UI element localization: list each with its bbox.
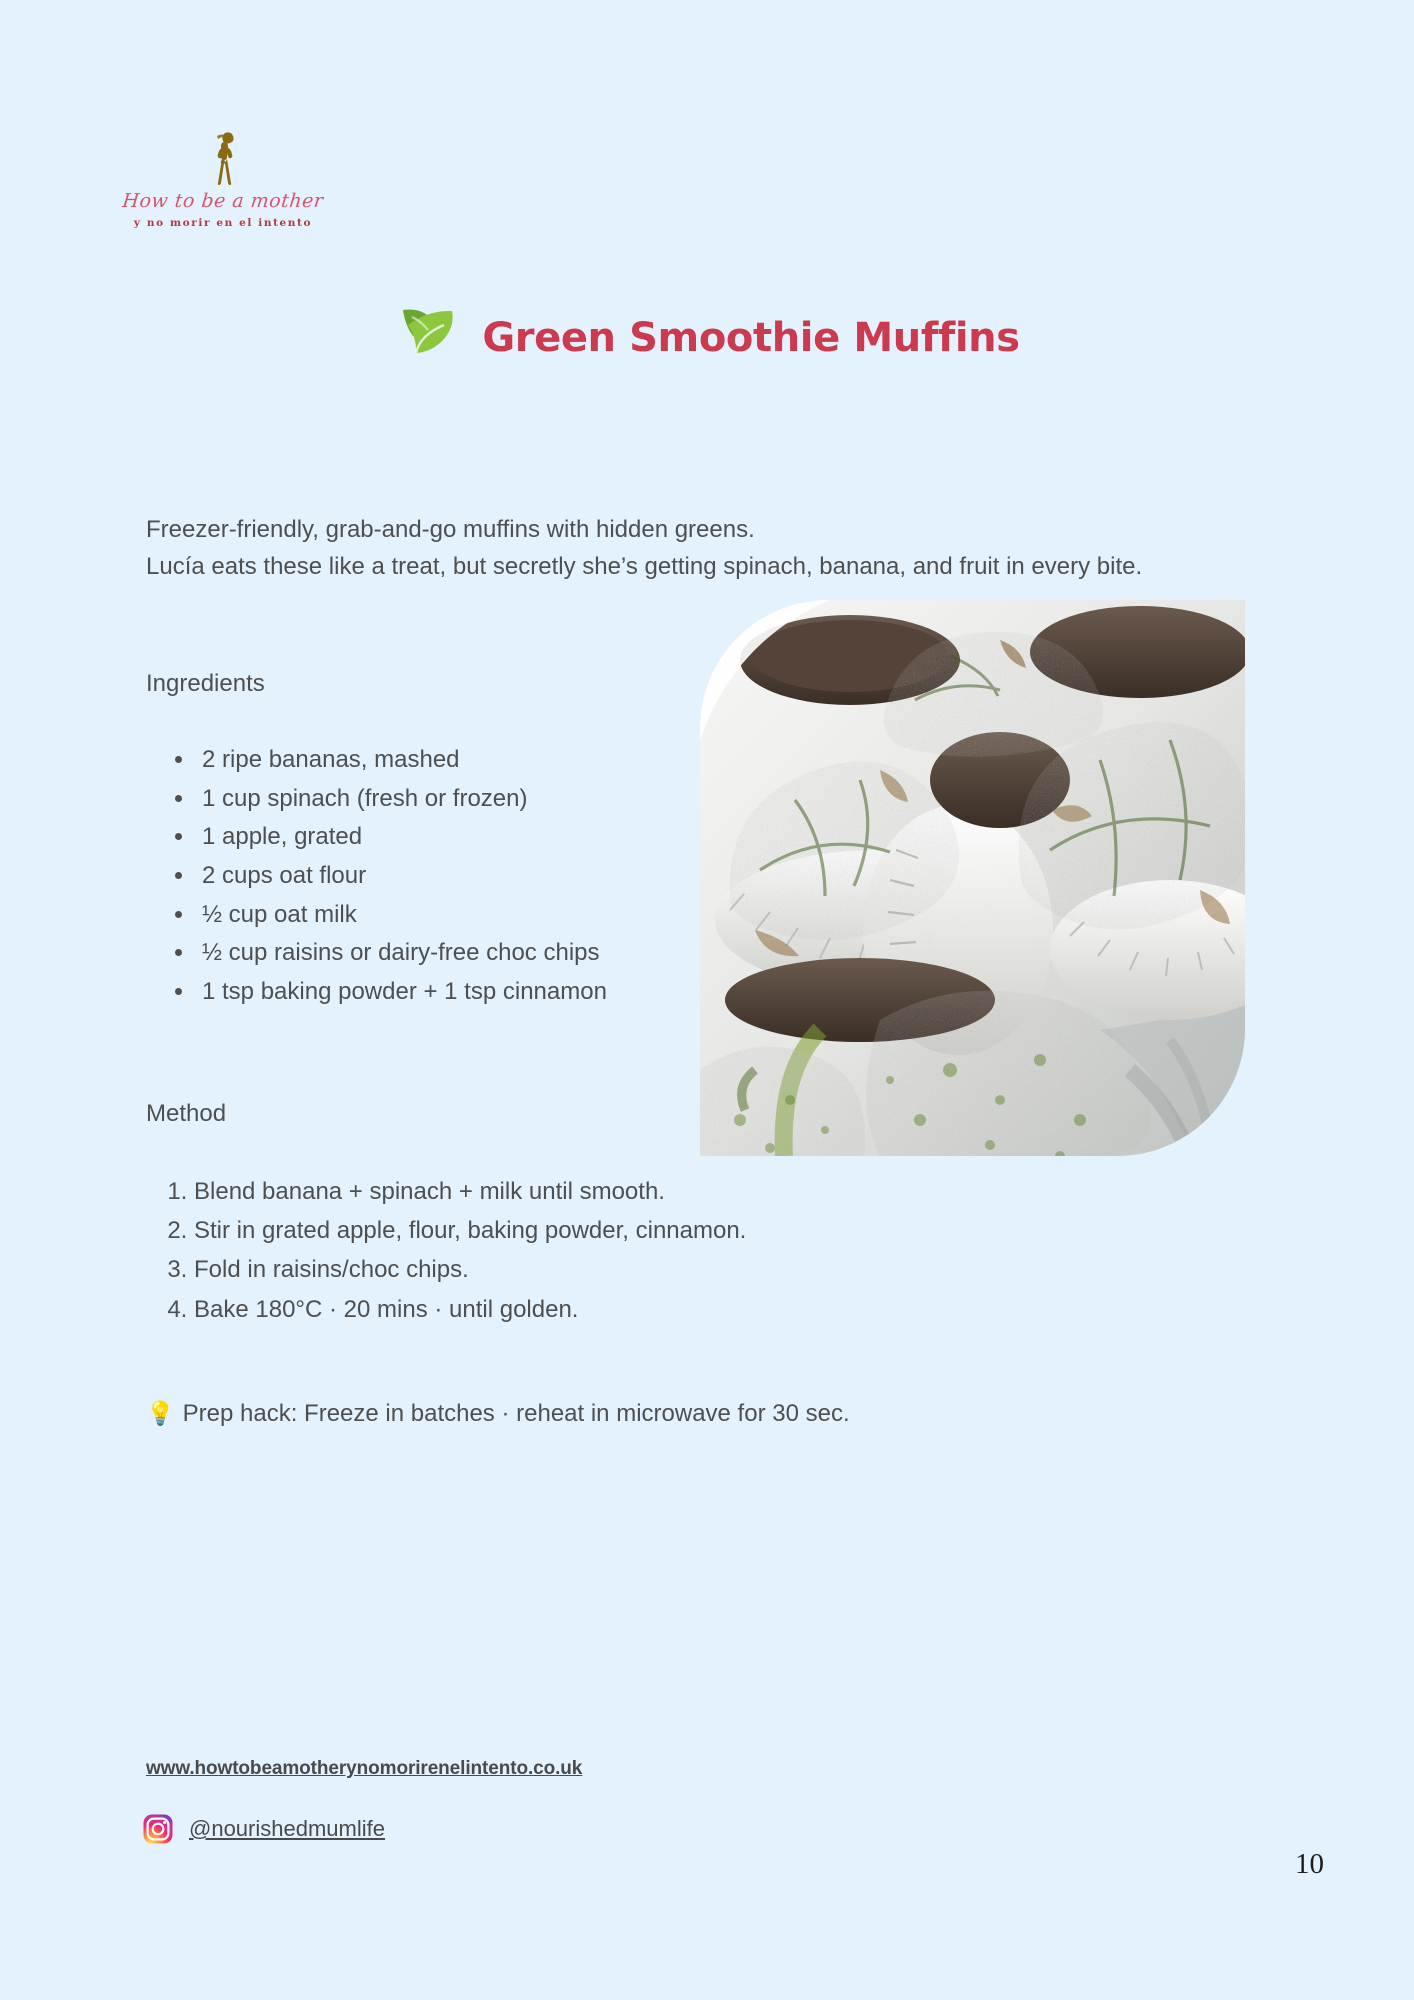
intro-paragraph: Freezer-friendly, grab-and-go muffins wi…: [146, 512, 1268, 585]
list-item: ½ cup oat milk: [196, 899, 756, 930]
prep-hack-tip: 💡Prep hack: Freeze in batches · reheat i…: [146, 1400, 850, 1428]
list-item: 2 cups oat flour: [196, 860, 756, 891]
list-item: Fold in raisins/choc chips.: [194, 1254, 1094, 1285]
logo-tagline: y no morir en el intento: [108, 217, 338, 229]
logo-wordmark: How to be a mother: [107, 190, 339, 212]
leaf-icon: [394, 303, 460, 373]
list-item: Stir in grated apple, flour, baking powd…: [194, 1215, 1094, 1246]
instagram-icon[interactable]: [143, 1814, 173, 1844]
ingredients-heading: Ingredients: [146, 670, 265, 698]
ingredients-list: 2 ripe bananas, mashed 1 cup spinach (fr…: [146, 744, 756, 1015]
list-item: 2 ripe bananas, mashed: [196, 744, 756, 775]
recipe-header: Green Smoothie Muffins: [0, 288, 1414, 388]
list-item: Bake 180°C · 20 mins · until golden.: [194, 1294, 1094, 1325]
recipe-page: How to be a mother y no morir en el inte…: [0, 0, 1414, 2000]
list-item: ½ cup raisins or dairy-free choc chips: [196, 937, 756, 968]
list-item: Blend banana + spinach + milk until smoo…: [194, 1176, 1094, 1207]
page-title: Green Smoothie Muffins: [482, 315, 1019, 361]
list-item: 1 apple, grated: [196, 821, 756, 852]
list-item: 1 cup spinach (fresh or frozen): [196, 783, 756, 814]
brand-logo: How to be a mother y no morir en el inte…: [108, 130, 338, 229]
intro-line-1: Freezer-friendly, grab-and-go muffins wi…: [146, 512, 1268, 549]
instagram-handle[interactable]: @nourishedmumlife: [189, 1816, 385, 1842]
mother-and-child-figure-icon: [108, 130, 338, 186]
method-list: Blend banana + spinach + milk until smoo…: [146, 1176, 1094, 1333]
green-muffins-photo: [700, 600, 1245, 1156]
intro-line-2: Lucía eats these like a treat, but secre…: [146, 549, 1268, 586]
method-heading: Method: [146, 1100, 226, 1128]
prep-hack-text: Prep hack: Freeze in batches · reheat in…: [183, 1400, 850, 1427]
page-number: 10: [1295, 1848, 1324, 1881]
website-link[interactable]: www.howtobeamotherynomorirenelintento.co…: [146, 1758, 582, 1780]
instagram-row[interactable]: @nourishedmumlife: [143, 1814, 385, 1844]
list-item: 1 tsp baking powder + 1 tsp cinnamon: [196, 976, 756, 1007]
lightbulb-icon: 💡: [146, 1400, 175, 1426]
